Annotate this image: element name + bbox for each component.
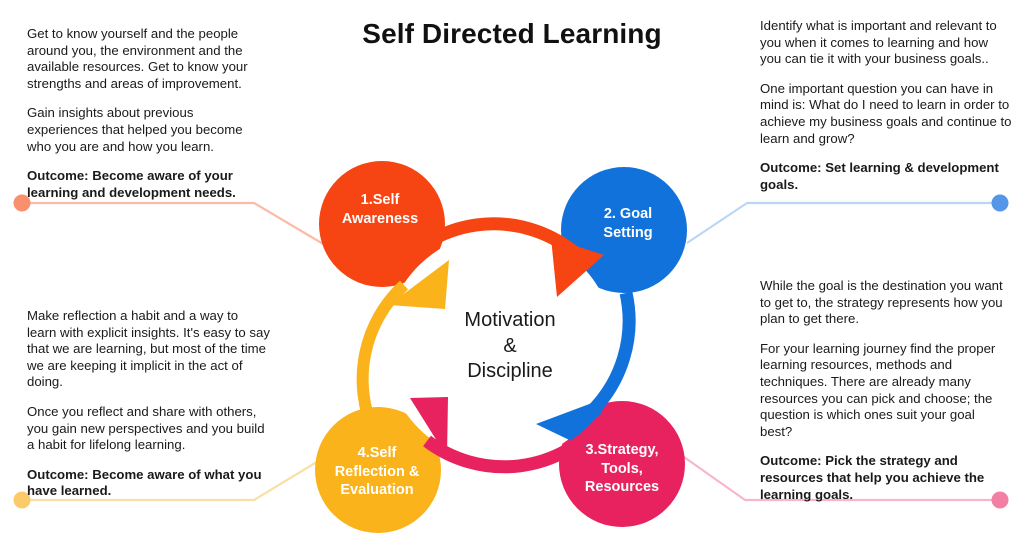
stage-label-goal-setting: 2. Goal Setting: [576, 205, 680, 242]
stage-label-line1: 4.Self: [318, 444, 436, 463]
description-self-awareness: Get to know yourself and the people arou…: [27, 26, 251, 201]
connector-dot-goal-setting: [992, 195, 1009, 212]
description-outcome: Outcome: Become aware of what you have l…: [27, 467, 270, 500]
description-strategy: While the goal is the destination you wa…: [760, 278, 1010, 503]
center-label-line2: &: [420, 334, 600, 360]
description-outcome: Outcome: Set learning & development goal…: [760, 160, 1012, 193]
stage-label-line2: Awareness: [326, 210, 434, 229]
center-label-line3: Discipline: [420, 359, 600, 385]
stage-label-line1: 3.Strategy,: [566, 441, 678, 460]
connector-line-self-awareness: [22, 203, 330, 248]
stage-label-line2: Tools,: [566, 460, 678, 479]
description-paragraph: Once you reflect and share with others, …: [27, 404, 270, 454]
stage-label-line3: Evaluation: [318, 481, 436, 500]
diagram-canvas: Self Directed Learning: [0, 0, 1024, 545]
description-paragraph: While the goal is the destination you wa…: [760, 278, 1010, 328]
stage-label-line3: Resources: [566, 478, 678, 497]
description-paragraph: One important question you can have in m…: [760, 81, 1012, 147]
description-paragraph: Gain insights about previous experiences…: [27, 105, 251, 155]
arrow-self-awareness-to-goal-setting: [390, 224, 604, 297]
stage-label-line1: 2. Goal: [576, 205, 680, 224]
stage-label-line2: Setting: [576, 224, 680, 243]
description-outcome: Outcome: Pick the strategy and resources…: [760, 453, 1010, 503]
description-paragraph: Make reflection a habit and a way to lea…: [27, 308, 270, 391]
center-label-line1: Motivation: [420, 308, 600, 334]
description-goal-setting: Identify what is important and relevant …: [760, 18, 1012, 193]
description-paragraph: Identify what is important and relevant …: [760, 18, 1012, 68]
description-paragraph: Get to know yourself and the people arou…: [27, 26, 251, 92]
stage-label-self-reflection: 4.Self Reflection & Evaluation: [318, 444, 436, 500]
stage-label-self-awareness: 1.Self Awareness: [326, 191, 434, 228]
description-outcome: Outcome: Become aware of your learning a…: [27, 168, 251, 201]
description-self-reflection: Make reflection a habit and a way to lea…: [27, 308, 270, 500]
connector-line-goal-setting: [687, 203, 1000, 243]
stage-label-line1: 1.Self: [326, 191, 434, 210]
description-paragraph: For your learning journey find the prope…: [760, 341, 1010, 441]
stage-label-line2: Reflection &: [318, 463, 436, 482]
stage-label-strategy: 3.Strategy, Tools, Resources: [566, 441, 678, 497]
center-label: Motivation & Discipline: [420, 308, 600, 385]
